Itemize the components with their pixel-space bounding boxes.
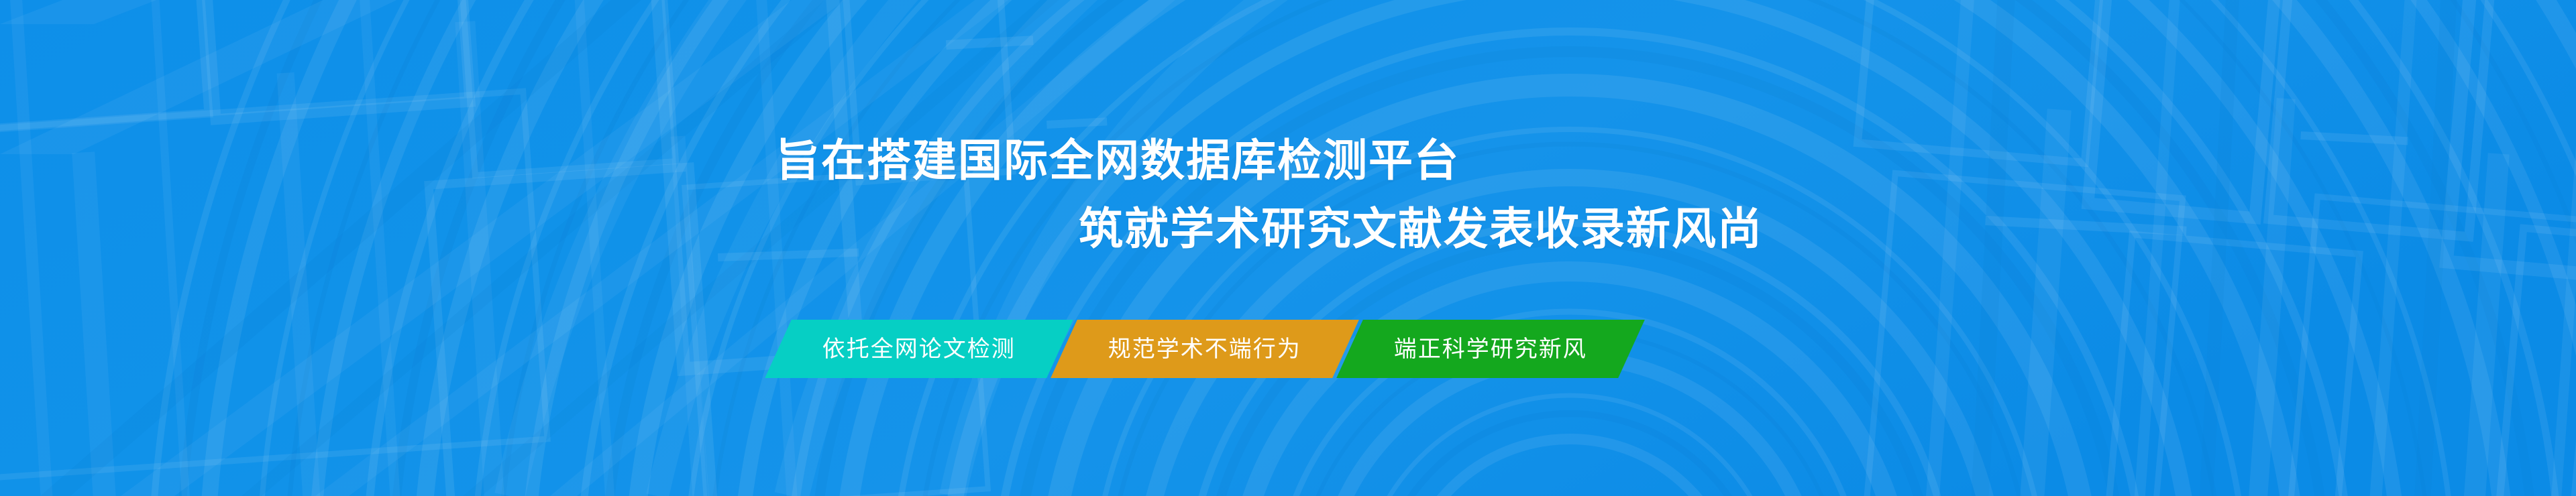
feature-tag-misconduct-label: 规范学术不端行为 xyxy=(1106,338,1304,361)
feature-tag-detection[interactable]: 依托全网论文检测 xyxy=(765,320,1073,378)
feature-tag-bar: 依托全网论文检测 规范学术不端行为 端正科学研究新风 xyxy=(778,320,1631,378)
headline-line-1: 旨在搭建国际全网数据库检测平台 xyxy=(775,138,1460,182)
feature-tag-integrity-label: 端正科学研究新风 xyxy=(1391,338,1590,361)
feature-tag-detection-label: 依托全网论文检测 xyxy=(820,338,1018,361)
headline-block: 旨在搭建国际全网数据库检测平台 筑就学术研究文献发表收录新风尚 xyxy=(0,0,2576,496)
promo-banner: 旨在搭建国际全网数据库检测平台 筑就学术研究文献发表收录新风尚 依托全网论文检测… xyxy=(0,0,2576,496)
feature-tag-misconduct[interactable]: 规范学术不端行为 xyxy=(1051,320,1359,378)
feature-tag-integrity[interactable]: 端正科学研究新风 xyxy=(1336,320,1645,378)
headline-line-2: 筑就学术研究文献发表收录新风尚 xyxy=(1079,206,1763,251)
